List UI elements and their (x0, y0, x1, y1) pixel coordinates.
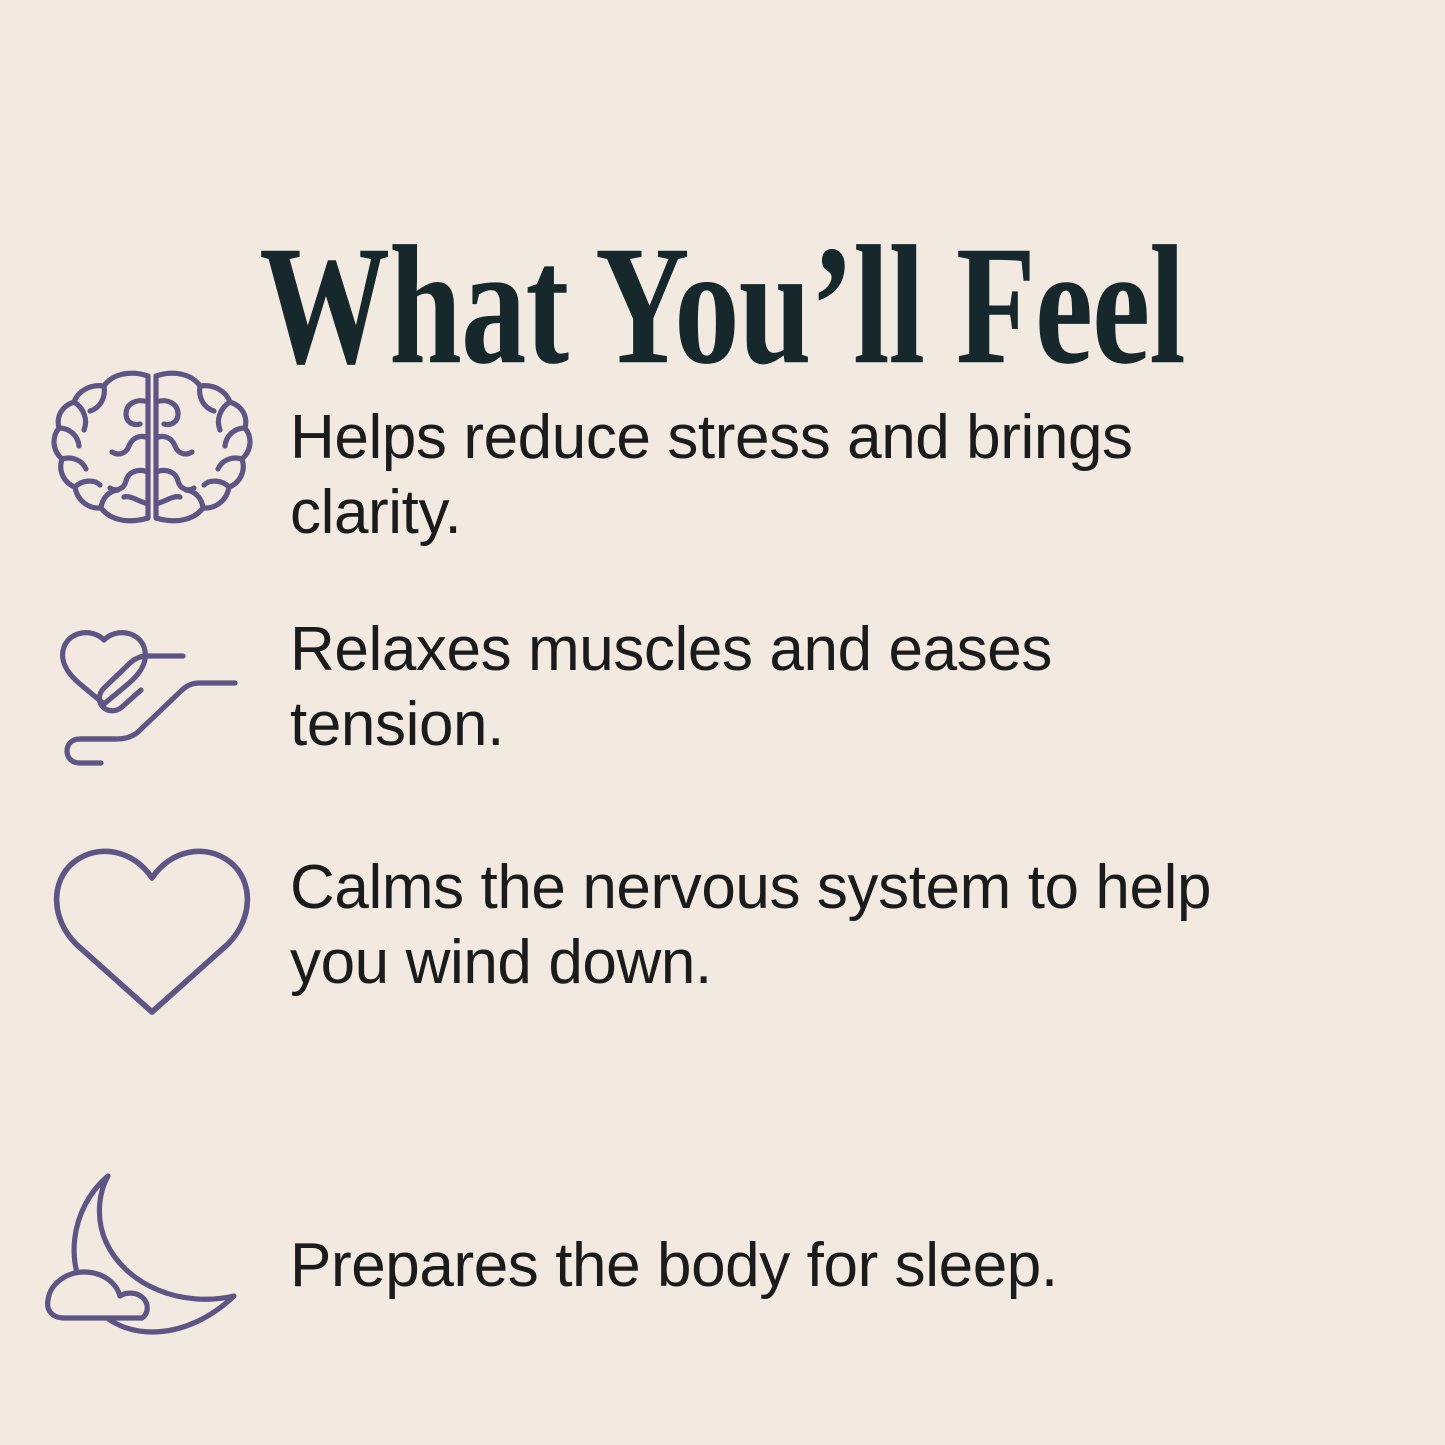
feature-icon-cell (0, 840, 290, 1018)
feature-icon-cell (0, 608, 290, 772)
feature-label: Calms the nervous system to help you win… (290, 850, 1265, 1000)
feature-label: Relaxes muscles and eases tension. (290, 612, 1265, 762)
feature-icon-cell (0, 368, 290, 536)
brain-icon (52, 368, 252, 536)
feature-item-nervous-system: Calms the nervous system to help you win… (0, 840, 1445, 1018)
feature-label: Prepares the body for sleep. (290, 1228, 1265, 1303)
feature-text-cell: Calms the nervous system to help you win… (290, 840, 1445, 1000)
benefits-poster: What You’ll Feel (0, 0, 1445, 1445)
feature-item-muscles: Relaxes muscles and eases tension. (0, 608, 1445, 772)
feature-text-cell: Prepares the body for sleep. (290, 1160, 1445, 1303)
feature-text-cell: Relaxes muscles and eases tension. (290, 608, 1445, 762)
feature-icon-cell (0, 1160, 290, 1350)
crescent-moon-cloud-icon (48, 1160, 252, 1350)
feature-text-cell: Helps reduce stress and brings clarity. (290, 368, 1445, 550)
heart-outline-icon (52, 840, 252, 1018)
feature-label: Helps reduce stress and brings clarity. (290, 400, 1265, 550)
heart-in-hand-icon (52, 622, 252, 772)
feature-item-sleep: Prepares the body for sleep. (0, 1160, 1445, 1350)
feature-item-stress: Helps reduce stress and brings clarity. (0, 368, 1445, 550)
page-title: What You’ll Feel (260, 220, 1185, 390)
